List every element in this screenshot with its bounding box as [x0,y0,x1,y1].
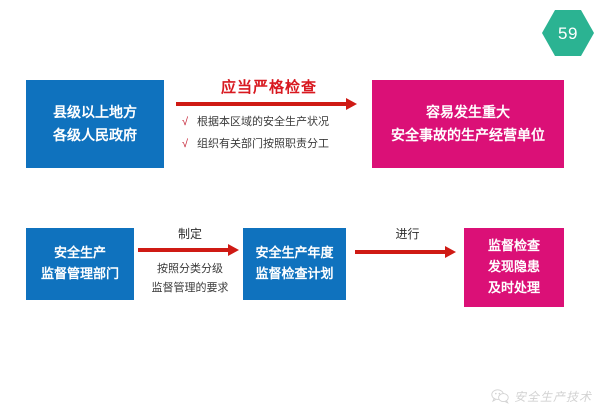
arrow-caption-formulate: 制定 [138,228,242,240]
box-line-2: 监督管理部门 [41,264,119,285]
arrow-group-carry-out: 进行 [355,228,460,278]
list-item: √ 根据本区域的安全生产状况 [182,116,362,129]
box-line-3: 及时处理 [488,278,540,299]
arrow-head-icon [228,244,239,256]
arrow-head-icon [445,246,456,258]
watermark-label: 安全生产技术 [514,388,592,405]
arrow-shaft-icon [355,250,447,254]
box-line-1: 安全生产年度 [255,243,333,264]
watermark: 安全生产技术 [491,388,592,405]
arrow-group-formulate: 制定 按照分类分级 监督管理的要求 [138,228,242,308]
process-box-inspection-outcome: 监督检查 发现隐患 及时处理 [464,228,564,307]
arrow-group-strict-inspection: 应当严格检查 √ 根据本区域的安全生产状况 √ 组织有关部门按照职责分工 [176,80,362,170]
arrow-head-icon [346,98,357,110]
arrow-subcaption-line-2: 监督管理的要求 [138,279,242,298]
slide-canvas: 59 县级以上地方 各级人民政府 应当严格检查 √ 根据本区域的安全生产状况 √… [0,0,600,415]
bullet-list: √ 根据本区域的安全生产状况 √ 组织有关部门按照职责分工 [182,116,362,160]
box-line-1: 安全生产 [54,243,106,264]
process-box-supervision-department: 安全生产 监督管理部门 [26,228,134,300]
checkmark-icon: √ [182,138,188,151]
process-box-annual-inspection-plan: 安全生产年度 监督检查计划 [243,228,346,300]
arrow-caption-strict-inspection: 应当严格检查 [176,80,362,95]
box-line-1: 容易发生重大 [426,101,510,124]
box-line-2: 安全事故的生产经营单位 [391,124,545,147]
arrow-shaft-icon [138,248,230,252]
arrow-caption-carry-out: 进行 [355,228,460,240]
page-number-badge: 59 [542,10,594,56]
arrow-shaft-icon [176,102,348,106]
list-item-label: 组织有关部门按照职责分工 [197,138,329,151]
box-line-2: 发现隐患 [488,257,540,278]
list-item-label: 根据本区域的安全生产状况 [197,116,329,129]
arrow-subcaption-line-1: 按照分类分级 [138,260,242,279]
box-line-2: 各级人民政府 [53,124,137,147]
wechat-icon [491,389,509,404]
checkmark-icon: √ [182,116,188,129]
process-box-high-risk-enterprise: 容易发生重大 安全事故的生产经营单位 [372,80,564,168]
page-number-label: 59 [558,25,578,42]
list-item: √ 组织有关部门按照职责分工 [182,138,362,151]
box-line-1: 县级以上地方 [53,101,137,124]
process-box-local-government: 县级以上地方 各级人民政府 [26,80,164,168]
arrow-subcaption: 按照分类分级 监督管理的要求 [138,260,242,299]
box-line-1: 监督检查 [488,236,540,257]
box-line-2: 监督检查计划 [255,264,333,285]
